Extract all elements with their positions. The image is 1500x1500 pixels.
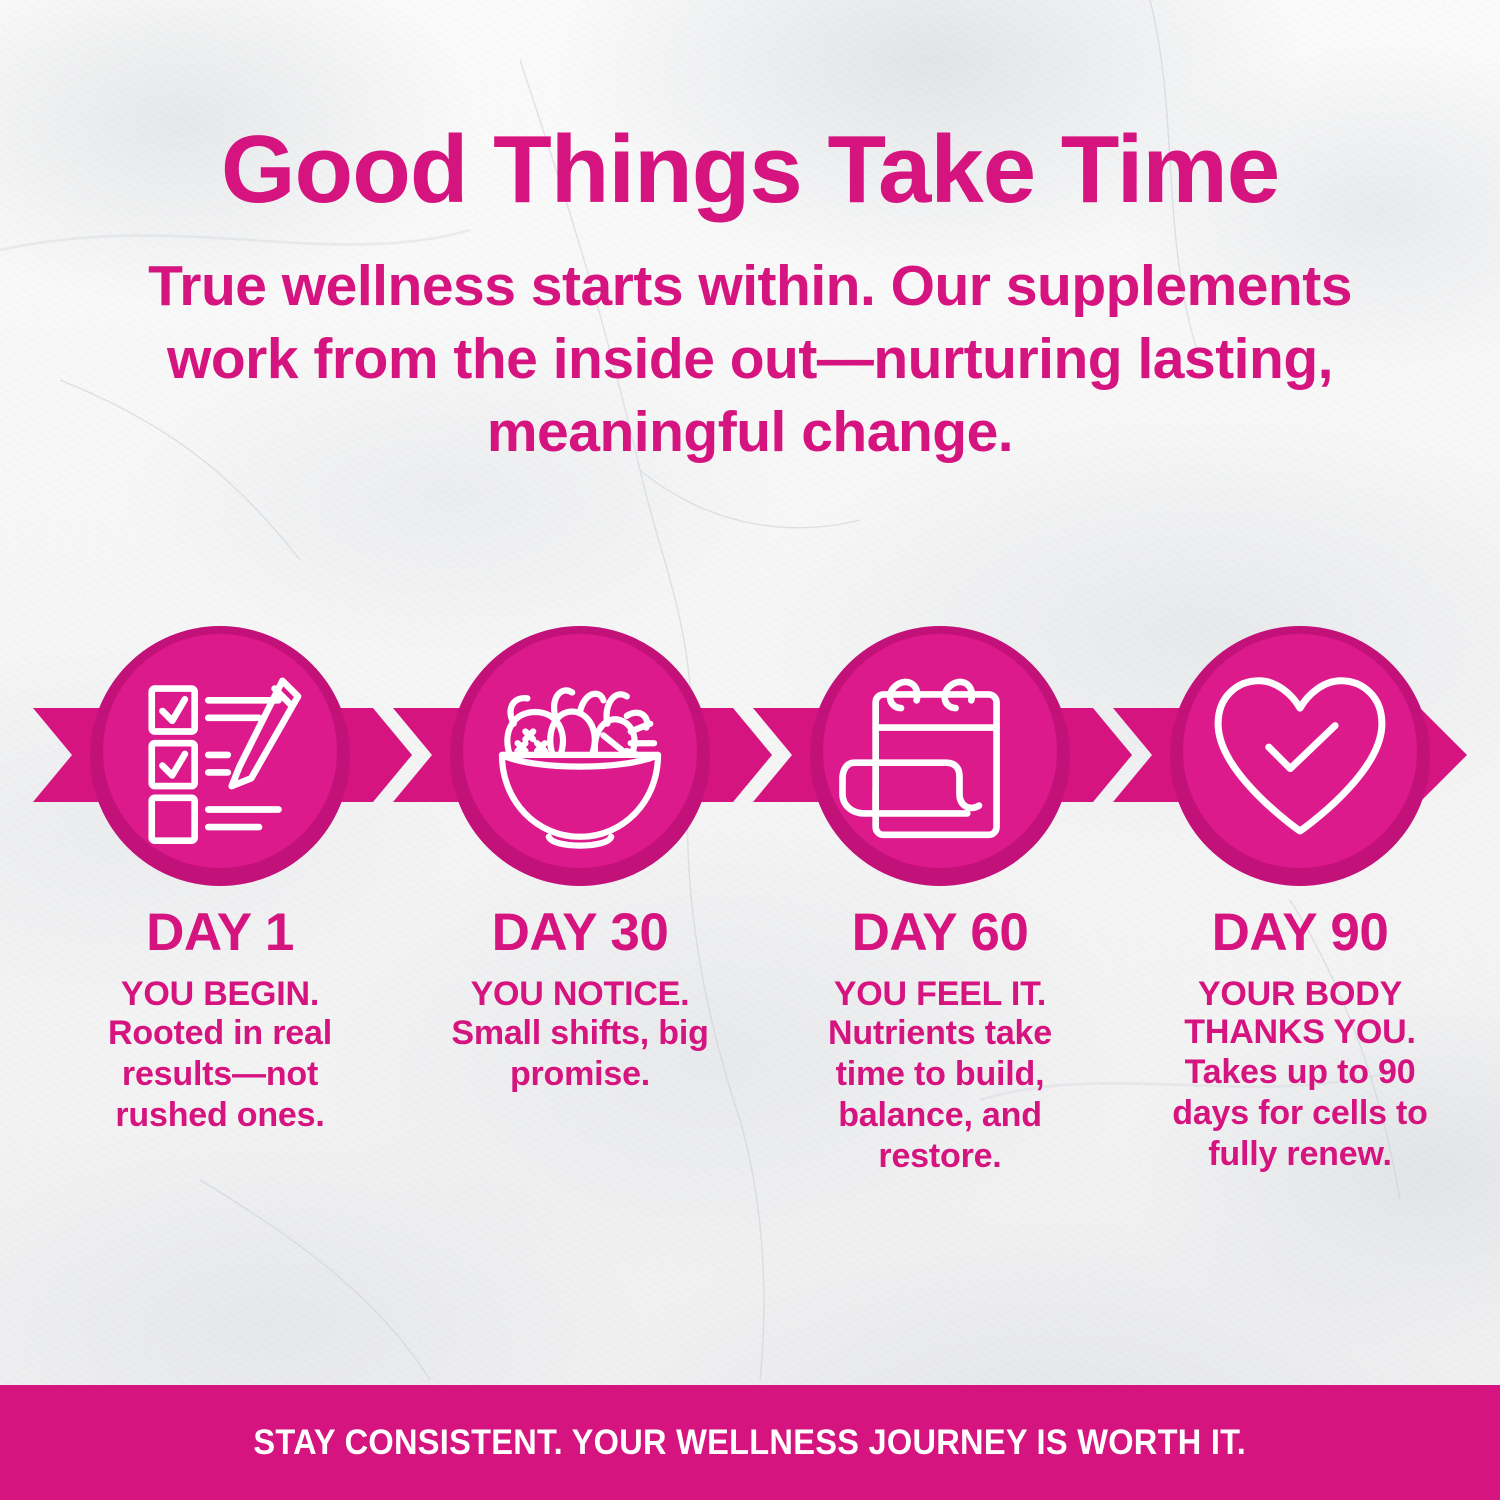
day-label: DAY 1 xyxy=(70,905,370,961)
timeline-steps xyxy=(0,626,1500,896)
checklist-pencil-icon xyxy=(103,634,337,868)
footer-text: STAY CONSISTENT. YOUR WELLNESS JOURNEY I… xyxy=(254,1423,1247,1463)
lead-label: YOU FEEL IT. xyxy=(790,961,1090,1014)
header: Good Things Take Time True wellness star… xyxy=(0,0,1500,469)
day-label: DAY 30 xyxy=(430,905,730,961)
timeline-step-day-30[interactable] xyxy=(450,626,710,886)
heart-check-icon xyxy=(1183,634,1417,868)
footer-banner: STAY CONSISTENT. YOUR WELLNESS JOURNEY I… xyxy=(0,1385,1500,1500)
caption-day-60: DAY 60 YOU FEEL IT. Nutrients take time … xyxy=(790,905,1090,1177)
lead-label: YOUR BODY THANKS YOU. xyxy=(1150,961,1450,1053)
caption-day-90: DAY 90 YOUR BODY THANKS YOU. Takes up to… xyxy=(1150,905,1450,1175)
caption-day-1: DAY 1 YOU BEGIN. Rooted in real results—… xyxy=(70,905,370,1136)
caption-day-30: DAY 30 YOU NOTICE. Small shifts, big pro… xyxy=(430,905,730,1095)
body-text: Nutrients take time to build, balance, a… xyxy=(790,1013,1090,1176)
timeline-step-day-1[interactable] xyxy=(90,626,350,886)
day-label: DAY 90 xyxy=(1150,905,1450,961)
lead-label: YOU NOTICE. xyxy=(430,961,730,1014)
infographic-canvas: Good Things Take Time True wellness star… xyxy=(0,0,1500,1500)
lead-label: YOU BEGIN. xyxy=(70,961,370,1014)
timeline-step-day-90[interactable] xyxy=(1170,626,1430,886)
body-text: Takes up to 90 days for cells to fully r… xyxy=(1150,1052,1450,1174)
body-text: Rooted in real results—not rushed ones. xyxy=(70,1013,370,1135)
body-text: Small shifts, big promise. xyxy=(430,1013,730,1095)
salad-bowl-icon xyxy=(463,634,697,868)
page-subtitle: True wellness starts within. Our supplem… xyxy=(130,218,1370,469)
timeline-step-day-60[interactable] xyxy=(810,626,1070,886)
calendar-icon xyxy=(823,634,1057,868)
day-label: DAY 60 xyxy=(790,905,1090,961)
page-title: Good Things Take Time xyxy=(0,0,1500,218)
